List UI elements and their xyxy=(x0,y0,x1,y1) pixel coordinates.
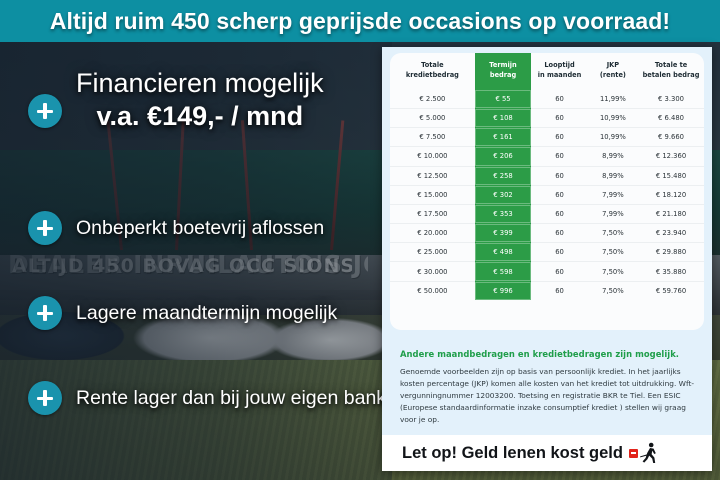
cell-months: 60 xyxy=(531,128,588,147)
disclaimer-body: Genoemde voorbeelden zijn op basis van p… xyxy=(400,366,694,426)
cell-months: 60 xyxy=(531,204,588,223)
cell-credit-amount: € 17.500 xyxy=(390,204,475,223)
plus-circle-icon xyxy=(28,381,62,415)
table-row: € 7.500€ 1616010,99%€ 9.660 xyxy=(390,128,704,147)
rate-table-head: Totale kredietbedrag Termijn bedrag Loop… xyxy=(390,54,704,90)
cell-months: 60 xyxy=(531,262,588,281)
table-row: € 2.500€ 556011,99%€ 3.300 xyxy=(390,89,704,108)
cell-term-amount: € 161 xyxy=(475,128,532,147)
cell-total-amount: € 12.360 xyxy=(638,147,704,166)
cell-jkp: 8,99% xyxy=(588,147,638,166)
cell-total-amount: € 3.300 xyxy=(638,89,704,108)
red-money-block-icon xyxy=(629,449,638,458)
cell-term-amount: € 996 xyxy=(475,281,532,300)
cell-credit-amount: € 2.500 xyxy=(390,89,475,108)
feature-item-financing: Financieren mogelijk v.a. €149,- / mnd xyxy=(28,68,324,132)
cell-total-amount: € 21.180 xyxy=(638,204,704,223)
column-header-duration: Looptijd in maanden xyxy=(531,54,588,90)
warning-strip: Let op! Geld lenen kost geld xyxy=(382,435,712,471)
cell-credit-amount: € 5.000 xyxy=(390,108,475,127)
feature-item-lower-interest: Rente lager dan bij jouw eigen bank xyxy=(28,381,386,415)
feature-item-penalty-free: Onbeperkt boetevrij aflossen xyxy=(28,211,324,245)
cell-jkp: 7,99% xyxy=(588,204,638,223)
feature-hero-line2: v.a. €149,- / mnd xyxy=(97,101,304,132)
cell-term-amount: € 206 xyxy=(475,147,532,166)
cell-total-amount: € 23.940 xyxy=(638,224,704,243)
warning-text: Let op! Geld lenen kost geld xyxy=(402,444,623,463)
column-header-term-amount: Termijn bedrag xyxy=(475,54,532,90)
table-row: € 17.500€ 353607,99%€ 21.180 xyxy=(390,204,704,223)
cell-jkp: 10,99% xyxy=(588,128,638,147)
financing-info-panel: Totale kredietbedrag Termijn bedrag Loop… xyxy=(382,47,712,471)
column-header-credit: Totale kredietbedrag xyxy=(390,54,475,90)
cell-total-amount: € 9.660 xyxy=(638,128,704,147)
disclaimer-title: Andere maandbedragen en kredietbedragen … xyxy=(400,349,694,359)
rate-table-body: € 2.500€ 556011,99%€ 3.300€ 5.000€ 10860… xyxy=(390,89,704,300)
cell-jkp: 11,99% xyxy=(588,89,638,108)
cell-total-amount: € 59.760 xyxy=(638,281,704,300)
cell-term-amount: € 108 xyxy=(475,108,532,127)
cell-term-amount: € 55 xyxy=(475,89,532,108)
feature-item-lower-monthly: Lagere maandtermijn mogelijk xyxy=(28,296,337,330)
cell-credit-amount: € 30.000 xyxy=(390,262,475,281)
feature-hero-line1: Financieren mogelijk xyxy=(76,68,324,99)
cell-months: 60 xyxy=(531,224,588,243)
rate-table-card: Totale kredietbedrag Termijn bedrag Loop… xyxy=(390,53,704,330)
feature-label: Onbeperkt boetevrij aflossen xyxy=(76,217,324,240)
cell-months: 60 xyxy=(531,108,588,127)
table-row: € 15.000€ 302607,99%€ 18.120 xyxy=(390,185,704,204)
cell-jkp: 7,50% xyxy=(588,262,638,281)
cell-term-amount: € 598 xyxy=(475,262,532,281)
plus-circle-icon xyxy=(28,296,62,330)
afm-warning-icons xyxy=(629,442,658,464)
table-header-row: Totale kredietbedrag Termijn bedrag Loop… xyxy=(390,54,704,90)
cell-months: 60 xyxy=(531,147,588,166)
cell-total-amount: € 29.880 xyxy=(638,243,704,262)
cell-credit-amount: € 10.000 xyxy=(390,147,475,166)
plus-circle-icon xyxy=(28,211,62,245)
cell-jkp: 8,99% xyxy=(588,166,638,185)
column-header-jkp: JKP (rente) xyxy=(588,54,638,90)
cell-credit-amount: € 15.000 xyxy=(390,185,475,204)
table-row: € 12.500€ 258608,99%€ 15.480 xyxy=(390,166,704,185)
cell-credit-amount: € 7.500 xyxy=(390,128,475,147)
disclaimer-block: Andere maandbedragen en kredietbedragen … xyxy=(382,335,712,437)
table-row: € 25.000€ 498607,50%€ 29.880 xyxy=(390,243,704,262)
top-banner: Altijd ruim 450 scherp geprijsde occasio… xyxy=(0,0,720,42)
cell-months: 60 xyxy=(531,166,588,185)
cell-credit-amount: € 12.500 xyxy=(390,166,475,185)
table-row: € 30.000€ 598607,50%€ 35.880 xyxy=(390,262,704,281)
cell-jkp: 7,99% xyxy=(588,185,638,204)
feature-hero-text: Financieren mogelijk v.a. €149,- / mnd xyxy=(76,68,324,132)
rate-table: Totale kredietbedrag Termijn bedrag Loop… xyxy=(390,53,704,300)
cell-total-amount: € 35.880 xyxy=(638,262,704,281)
cell-term-amount: € 302 xyxy=(475,185,532,204)
cell-months: 60 xyxy=(531,243,588,262)
cell-term-amount: € 399 xyxy=(475,224,532,243)
cell-term-amount: € 498 xyxy=(475,243,532,262)
cell-months: 60 xyxy=(531,281,588,300)
table-row: € 20.000€ 399607,50%€ 23.940 xyxy=(390,224,704,243)
column-header-total: Totale te betalen bedrag xyxy=(638,54,704,90)
cell-jkp: 7,50% xyxy=(588,281,638,300)
plus-circle-icon xyxy=(28,94,62,128)
cell-term-amount: € 258 xyxy=(475,166,532,185)
cell-months: 60 xyxy=(531,89,588,108)
cell-credit-amount: € 25.000 xyxy=(390,243,475,262)
cell-jkp: 10,99% xyxy=(588,108,638,127)
feature-label: Lagere maandtermijn mogelijk xyxy=(76,302,337,325)
cell-months: 60 xyxy=(531,185,588,204)
cell-total-amount: € 6.480 xyxy=(638,108,704,127)
cell-total-amount: € 15.480 xyxy=(638,166,704,185)
cell-jkp: 7,50% xyxy=(588,224,638,243)
walking-person-pulling-block-icon xyxy=(639,442,658,464)
cell-credit-amount: € 50.000 xyxy=(390,281,475,300)
cell-credit-amount: € 20.000 xyxy=(390,224,475,243)
feature-label: Rente lager dan bij jouw eigen bank xyxy=(76,387,386,410)
table-row: € 10.000€ 206608,99%€ 12.360 xyxy=(390,147,704,166)
feature-list: Financieren mogelijk v.a. €149,- / mnd O… xyxy=(0,46,392,480)
table-row: € 50.000€ 996607,50%€ 59.760 xyxy=(390,281,704,300)
table-row: € 5.000€ 1086010,99%€ 6.480 xyxy=(390,108,704,127)
cell-total-amount: € 18.120 xyxy=(638,185,704,204)
banner-headline: Altijd ruim 450 scherp geprijsde occasio… xyxy=(50,8,670,35)
cell-term-amount: € 353 xyxy=(475,204,532,223)
cell-jkp: 7,50% xyxy=(588,243,638,262)
